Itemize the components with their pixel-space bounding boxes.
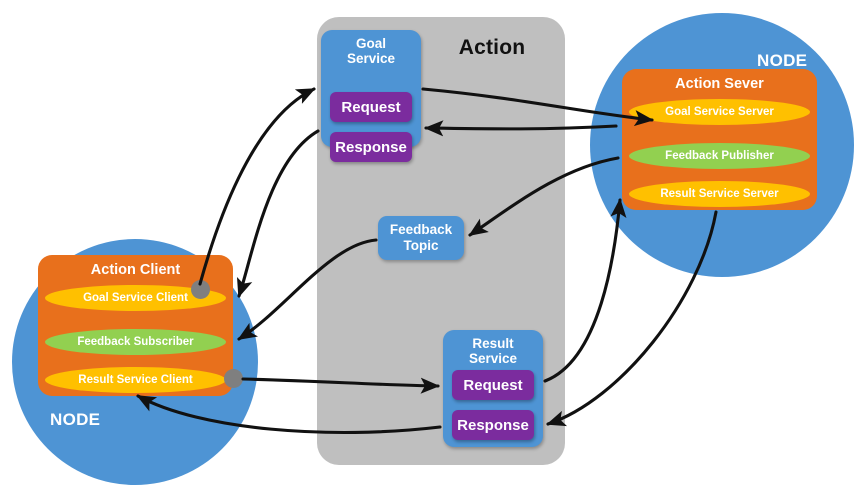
server-node-label: NODE: [757, 51, 807, 71]
result-service-title-line2: Service: [443, 351, 543, 366]
entity-feedback-publisher[interactable]: Feedback Publisher: [629, 143, 810, 169]
result-service-request[interactable]: Request: [452, 370, 534, 400]
action-client-box[interactable]: Action Client Goal Service Client Feedba…: [38, 255, 233, 396]
connector-dot-goal-client: [191, 280, 210, 299]
feedback-topic-title-line2: Topic: [404, 238, 439, 254]
result-service-box[interactable]: Result Service Request Response: [443, 330, 543, 447]
entity-goal-service-server[interactable]: Goal Service Server: [629, 99, 810, 125]
entity-result-service-client[interactable]: Result Service Client: [45, 367, 226, 393]
arrow-response-to-goal-client: [239, 131, 318, 296]
feedback-topic-title-line1: Feedback: [390, 222, 452, 238]
goal-service-title: Goal Service: [321, 36, 421, 66]
action-client-title: Action Client: [38, 262, 233, 278]
result-service-response[interactable]: Response: [452, 410, 534, 440]
result-service-title-line1: Result: [443, 336, 543, 351]
goal-service-response[interactable]: Response: [330, 132, 412, 162]
action-server-box[interactable]: Action Sever Goal Service Server Feedbac…: [622, 69, 817, 210]
action-group-label: Action: [437, 36, 547, 60]
goal-service-request[interactable]: Request: [330, 92, 412, 122]
diagram-canvas: Action Action Client Goal Service Client…: [0, 0, 854, 480]
connector-dot-result-client: [224, 369, 243, 388]
entity-result-service-server[interactable]: Result Service Server: [629, 181, 810, 207]
goal-service-box[interactable]: Goal Service Request Response: [321, 30, 421, 147]
entity-feedback-subscriber[interactable]: Feedback Subscriber: [45, 329, 226, 355]
feedback-topic-box[interactable]: Feedback Topic: [378, 216, 464, 260]
goal-service-title-line2: Service: [321, 51, 421, 66]
action-server-title: Action Sever: [622, 76, 817, 92]
result-service-title: Result Service: [443, 336, 543, 366]
client-node-label: NODE: [50, 410, 100, 430]
goal-service-title-line1: Goal: [321, 36, 421, 51]
